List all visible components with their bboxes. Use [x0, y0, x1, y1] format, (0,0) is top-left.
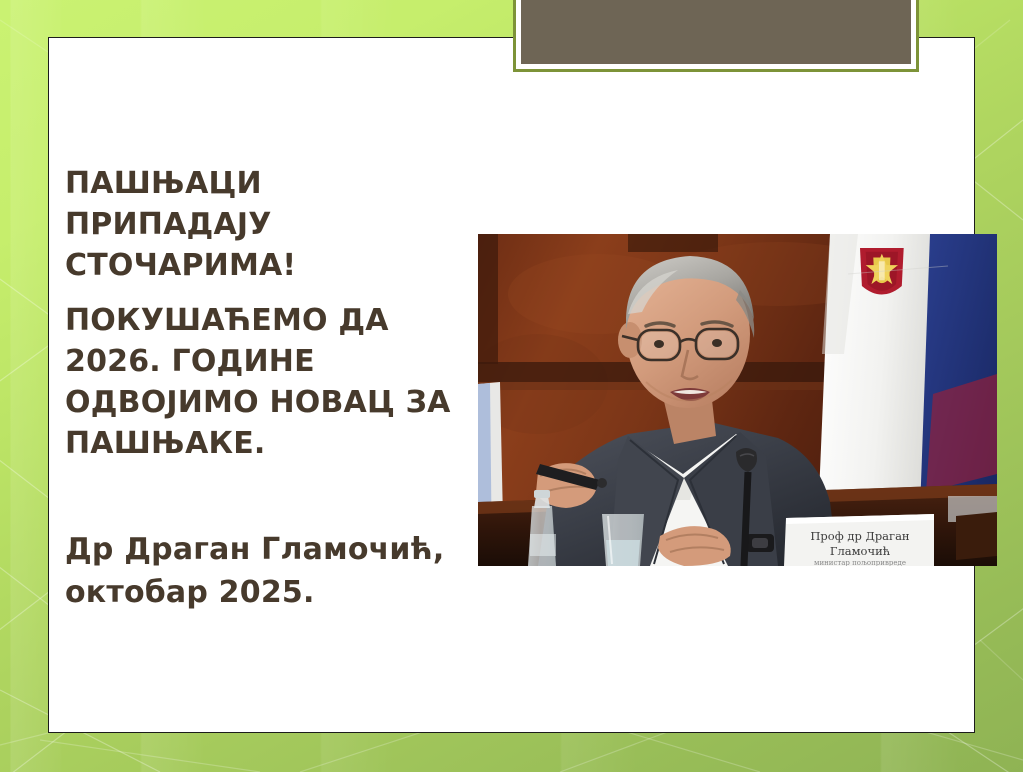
svg-text:Гламочић: Гламочић [830, 544, 891, 558]
signature-line: Др Драган Гламочић, октобар 2025. [65, 528, 485, 614]
speaker-photo: Проф др Драган Гламочић министар пољопри… [478, 234, 997, 566]
svg-text:министар пољопривреде: министар пољопривреде [814, 559, 906, 566]
headline-primary: ПАШЊАЦИ ПРИПАДАЈУ СТОЧАРИМА! [65, 163, 470, 286]
top-plate-fill [521, 0, 911, 64]
svg-text:Проф др Драган: Проф др Драган [810, 529, 910, 543]
headline-secondary: ПОКУШАЋЕМО ДА 2026. ГОДИНЕ ОДВОЈИМО НОВА… [65, 300, 470, 464]
presentation-slide: ПАШЊАЦИ ПРИПАДАЈУ СТОЧАРИМА! ПОКУШАЋЕМО … [0, 0, 1023, 772]
nameplate: Проф др Драган Гламочић министар пољопри… [784, 514, 934, 566]
speaker-photo-svg: Проф др Драган Гламочић министар пољопри… [478, 234, 997, 566]
text-column: ПАШЊАЦИ ПРИПАДАЈУ СТОЧАРИМА! ПОКУШАЋЕМО … [65, 163, 470, 464]
top-decorative-plate [513, 0, 919, 72]
